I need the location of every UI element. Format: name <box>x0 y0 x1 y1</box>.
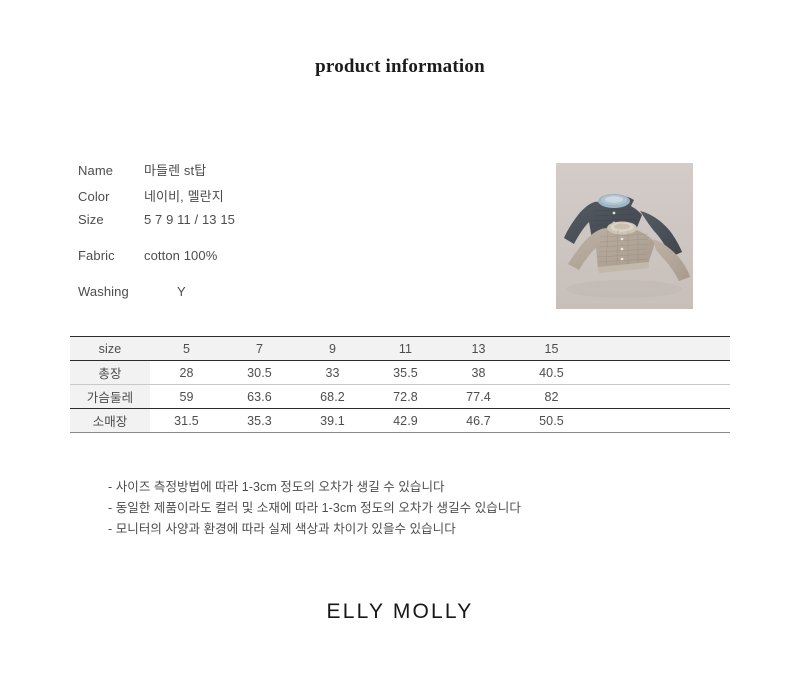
cell-chest-empty <box>588 385 730 409</box>
cell-sleeve-5: 31.5 <box>150 409 223 433</box>
cell-chest-15: 82 <box>515 385 588 409</box>
spec-value-name: 마들렌 st탑 <box>144 160 206 179</box>
cell-total-length-13: 38 <box>442 361 515 385</box>
cell-sleeve-11: 42.9 <box>369 409 442 433</box>
spec-row-size: Size 5 7 9 11 / 13 15 <box>78 212 498 238</box>
table-row: 총장 28 30.5 33 35.5 38 40.5 <box>70 361 730 385</box>
row-label-total-length: 총장 <box>70 361 150 385</box>
product-information-page: product information Name 마들렌 st탑 Color 네… <box>0 0 800 680</box>
header-cell-size: size <box>70 337 150 361</box>
cell-chest-7: 63.6 <box>223 385 296 409</box>
cell-sleeve-9: 39.1 <box>296 409 369 433</box>
product-spec-list: Name 마들렌 st탑 Color 네이비, 멜란지 Size 5 7 9 1… <box>78 160 498 310</box>
cell-chest-11: 72.8 <box>369 385 442 409</box>
row-label-sleeve: 소매장 <box>70 409 150 433</box>
product-photo <box>556 163 693 309</box>
cell-chest-13: 77.4 <box>442 385 515 409</box>
cell-sleeve-13: 46.7 <box>442 409 515 433</box>
header-cell-7: 7 <box>223 337 296 361</box>
spec-row-name: Name 마들렌 st탑 <box>78 160 498 186</box>
cell-total-length-5: 28 <box>150 361 223 385</box>
note-line-monitor: - 모니터의 사양과 환경에 따라 실제 색상과 차이가 있을수 있습니다 <box>108 519 708 540</box>
spec-value-washing: Y <box>144 284 186 299</box>
spec-row-washing: Washing Y <box>78 284 498 310</box>
cell-chest-5: 59 <box>150 385 223 409</box>
note-line-material: - 동일한 제품이라도 컬러 및 소재에 따라 1-3cm 정도의 오차가 생길… <box>108 498 708 519</box>
note-line-measurement: - 사이즈 측정방법에 따라 1-3cm 정도의 오차가 생길 수 있습니다 <box>108 477 708 498</box>
cell-chest-9: 68.2 <box>296 385 369 409</box>
page-title: product information <box>0 56 800 78</box>
header-cell-15: 15 <box>515 337 588 361</box>
spec-row-fabric: Fabric cotton 100% <box>78 248 498 274</box>
table-row: 가슴둘레 59 63.6 68.2 72.8 77.4 82 <box>70 385 730 409</box>
size-chart-table: size 5 7 9 11 13 15 총장 28 30.5 33 35.5 3… <box>70 336 730 433</box>
brand-logo-text: ELLY MOLLY <box>0 600 800 624</box>
cell-sleeve-7: 35.3 <box>223 409 296 433</box>
header-cell-9: 9 <box>296 337 369 361</box>
cell-total-length-7: 30.5 <box>223 361 296 385</box>
spec-value-size: 5 7 9 11 / 13 15 <box>144 212 235 227</box>
cell-total-length-9: 33 <box>296 361 369 385</box>
header-cell-13: 13 <box>442 337 515 361</box>
spec-label-size: Size <box>78 212 144 227</box>
spec-label-color: Color <box>78 189 144 204</box>
size-chart-header-row: size 5 7 9 11 13 15 <box>70 337 730 361</box>
table-row: 소매장 31.5 35.3 39.1 42.9 46.7 50.5 <box>70 409 730 433</box>
cell-total-length-empty <box>588 361 730 385</box>
header-cell-5: 5 <box>150 337 223 361</box>
cell-total-length-11: 35.5 <box>369 361 442 385</box>
header-cell-empty <box>588 337 730 361</box>
spec-label-fabric: Fabric <box>78 248 144 263</box>
product-photo-illustration <box>556 163 693 309</box>
cell-total-length-15: 40.5 <box>515 361 588 385</box>
spec-row-color: Color 네이비, 멜란지 <box>78 186 498 212</box>
spec-label-washing: Washing <box>78 284 144 299</box>
spec-label-name: Name <box>78 163 144 178</box>
disclaimer-notes: - 사이즈 측정방법에 따라 1-3cm 정도의 오차가 생길 수 있습니다 -… <box>108 477 708 540</box>
header-cell-11: 11 <box>369 337 442 361</box>
spec-value-fabric: cotton 100% <box>144 248 217 263</box>
spec-value-color: 네이비, 멜란지 <box>144 186 224 205</box>
cell-sleeve-15: 50.5 <box>515 409 588 433</box>
row-label-chest: 가슴둘레 <box>70 385 150 409</box>
cell-sleeve-empty <box>588 409 730 433</box>
